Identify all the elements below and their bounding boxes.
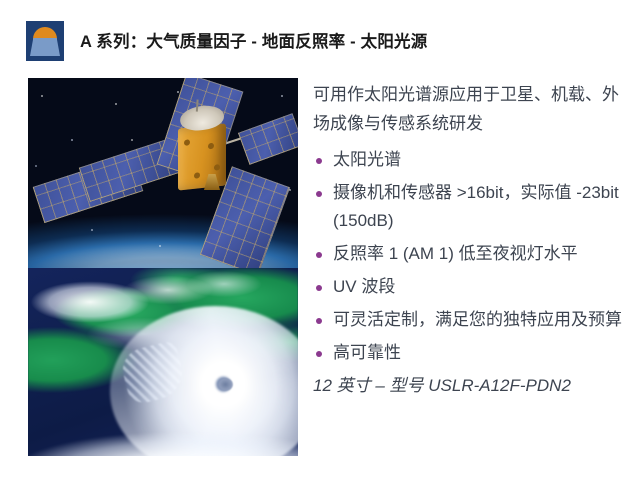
list-item: 高可靠性	[313, 339, 633, 367]
media-column	[28, 78, 298, 456]
list-item: 摄像机和传感器 >16bit，实际值 -23bit (150dB)	[313, 179, 633, 235]
list-item: 反照率 1 (AM 1) 低至夜视灯水平	[313, 240, 633, 268]
list-item: 太阳光谱	[313, 146, 633, 174]
satellite-photo	[28, 78, 298, 268]
satellite-bus	[178, 123, 226, 190]
lower-cloud-band	[28, 394, 298, 456]
page-title: A 系列：大气质量因子 - 地面反照率 - 太阳光源	[80, 28, 427, 52]
dome-logo-icon	[26, 21, 64, 61]
model-number-line: 12 英寸 – 型号 USLR-A12F-PDN2	[313, 372, 633, 400]
content-column: 可用作太阳光谱源应用于卫星、机载、外场成像与传感系统研发 太阳光谱 摄像机和传感…	[313, 80, 633, 400]
hurricane-photo	[28, 268, 298, 456]
feature-list: 太阳光谱 摄像机和传感器 >16bit，实际值 -23bit (150dB) 反…	[313, 146, 633, 367]
intro-paragraph: 可用作太阳光谱源应用于卫星、机载、外场成像与传感系统研发	[313, 80, 633, 138]
product-header: A 系列：大气质量因子 - 地面反照率 - 太阳光源	[0, 0, 642, 70]
list-item: UV 波段	[313, 273, 633, 301]
logo-base-shape	[30, 38, 60, 56]
list-item: 可灵活定制，满足您的独特应用及预算	[313, 306, 633, 334]
hurricane-eye	[218, 378, 233, 391]
